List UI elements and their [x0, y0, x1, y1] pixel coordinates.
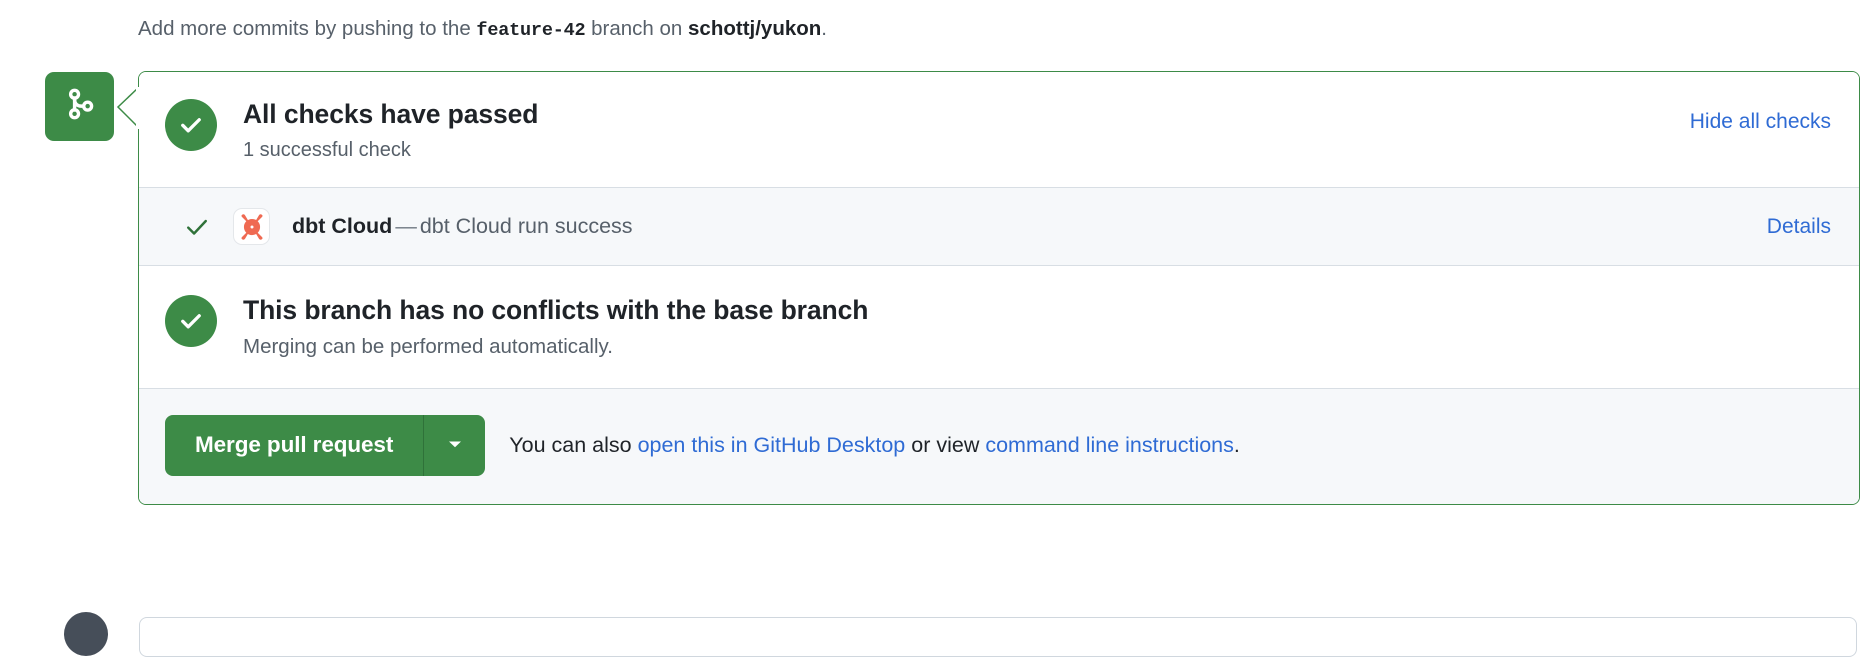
- checks-title: All checks have passed: [243, 98, 1690, 130]
- checks-header-section: All checks have passed 1 successful chec…: [139, 72, 1859, 187]
- merge-footer-section: Merge pull request You can also open thi…: [139, 389, 1859, 504]
- merge-button-group: Merge pull request: [165, 415, 485, 476]
- conflicts-check-circle-icon: [165, 295, 217, 347]
- merge-status-badge: [45, 72, 114, 141]
- footer-note-prefix: You can also: [509, 433, 637, 457]
- push-hint-suffix: .: [821, 17, 827, 40]
- merge-footer-note: You can also open this in GitHub Desktop…: [509, 433, 1240, 458]
- merge-box: All checks have passed 1 successful chec…: [138, 71, 1860, 505]
- conflicts-section: This branch has no conflicts with the ba…: [139, 266, 1859, 389]
- github-desktop-link[interactable]: open this in GitHub Desktop: [638, 433, 906, 457]
- branch-name: feature-42: [476, 20, 585, 41]
- checks-subtitle: 1 successful check: [243, 135, 1690, 165]
- check-icon: [183, 213, 211, 241]
- check-row: dbt Cloud—dbt Cloud run success Details: [139, 187, 1859, 266]
- conflicts-title: This branch has no conflicts with the ba…: [243, 294, 868, 326]
- next-timeline-box: [139, 617, 1857, 657]
- git-merge-icon: [63, 87, 97, 126]
- check-circle-icon: [165, 99, 217, 151]
- merge-options-dropdown-button[interactable]: [423, 415, 485, 476]
- check-details-link[interactable]: Details: [1767, 215, 1831, 239]
- conflicts-text: This branch has no conflicts with the ba…: [243, 294, 868, 362]
- footer-note-middle: or view: [905, 433, 985, 457]
- command-line-instructions-link[interactable]: command line instructions: [985, 433, 1234, 457]
- push-more-commits-hint: Add more commits by pushing to the featu…: [138, 13, 827, 47]
- conflicts-subtitle: Merging can be performed automatically.: [243, 332, 868, 362]
- push-hint-middle: branch on: [585, 17, 688, 40]
- repository-name: schottj/yukon: [688, 17, 821, 40]
- dbt-cloud-logo-icon: [233, 208, 270, 245]
- push-hint-prefix: Add more commits by pushing to the: [138, 17, 476, 40]
- check-dash: —: [392, 214, 420, 238]
- avatar[interactable]: [64, 612, 108, 656]
- chevron-down-icon: [445, 434, 465, 457]
- merge-pull-request-button[interactable]: Merge pull request: [165, 415, 423, 476]
- merge-box-connector: [114, 86, 140, 130]
- check-description: dbt Cloud run success: [420, 214, 633, 238]
- hide-all-checks-link[interactable]: Hide all checks: [1690, 110, 1831, 134]
- check-name: dbt Cloud: [292, 214, 392, 238]
- checks-header-text: All checks have passed 1 successful chec…: [243, 98, 1690, 165]
- check-row-label: dbt Cloud—dbt Cloud run success: [292, 214, 1767, 239]
- footer-note-suffix: .: [1234, 433, 1240, 457]
